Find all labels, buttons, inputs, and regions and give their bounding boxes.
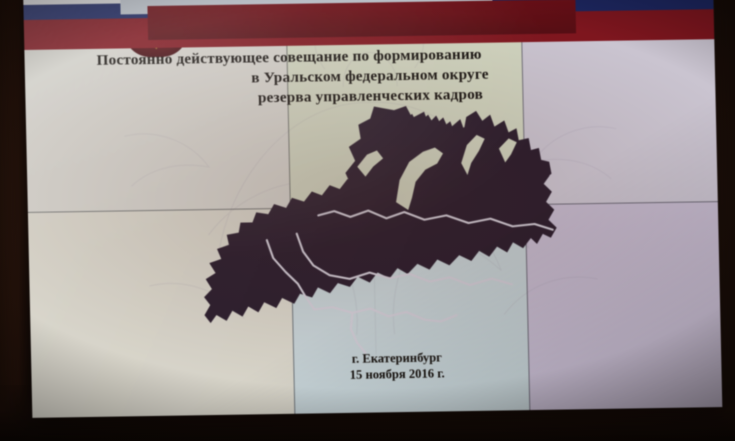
slide-title: Постоянно действующее совещание по форми…	[73, 42, 668, 111]
map-svg	[191, 104, 569, 360]
video-wall-surface: Уральский федеральный округ	[23, 0, 722, 418]
ural-federal-district-map	[191, 104, 569, 360]
slide-footer: г. Екатеринбург 15 ноября 2016 г.	[238, 348, 556, 385]
video-wall: Уральский федеральный округ	[23, 0, 722, 418]
header-nameplate	[148, 0, 576, 40]
presentation-room-photo: Уральский федеральный округ	[0, 0, 735, 441]
